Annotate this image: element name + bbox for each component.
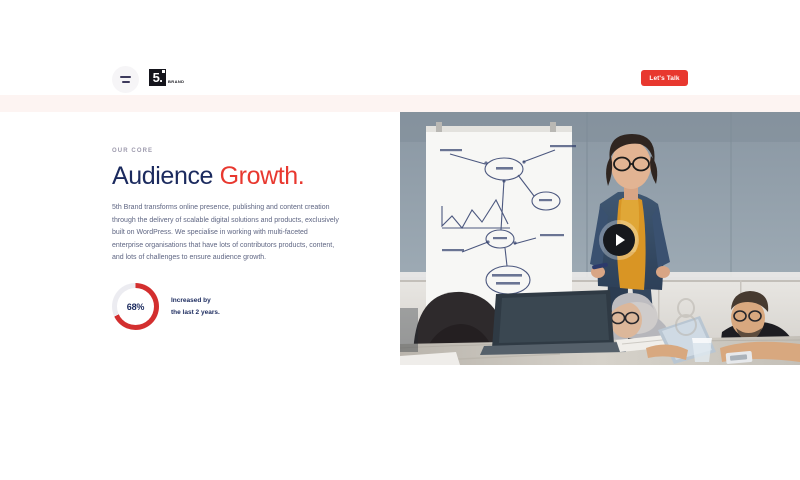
headline-accent: Growth. bbox=[220, 162, 305, 190]
headline-primary: Audience bbox=[112, 162, 213, 190]
hero-body-text: 5th Brand transforms online presence, pu… bbox=[112, 202, 340, 264]
stat-block: 68% Increased by the last 2 years. bbox=[112, 283, 220, 330]
stat-caption-line-1: Increased by bbox=[171, 295, 220, 306]
logo-mark: 5. bbox=[149, 69, 166, 86]
hamburger-menu-icon[interactable] bbox=[112, 66, 139, 93]
play-triangle bbox=[616, 234, 625, 246]
phone bbox=[726, 351, 753, 364]
brand-logo[interactable]: 5. BRAND bbox=[149, 69, 184, 86]
meeting-photo-illustration bbox=[400, 112, 800, 365]
page-title: Audience Growth. bbox=[112, 163, 352, 189]
stat-caption: Increased by the last 2 years. bbox=[171, 295, 220, 318]
landing-page: 5. BRAND Let's Talk OUR CORE Audience Gr… bbox=[0, 0, 800, 480]
menu-bar-top bbox=[120, 76, 131, 78]
donut-value-label: 68% bbox=[127, 302, 144, 312]
growth-donut-chart: 68% bbox=[112, 283, 159, 330]
logo-wordmark: BRAND bbox=[168, 79, 184, 86]
stat-caption-line-2: the last 2 years. bbox=[171, 307, 220, 318]
laptop bbox=[480, 290, 626, 355]
hero-video-thumbnail[interactable] bbox=[400, 112, 800, 365]
lets-talk-button[interactable]: Let's Talk bbox=[641, 70, 688, 86]
water-glass bbox=[692, 338, 712, 362]
logo-dot-square bbox=[162, 70, 165, 73]
hero-content: OUR CORE Audience Growth. 5th Brand tran… bbox=[112, 148, 352, 265]
decorative-blush-strip bbox=[0, 95, 800, 112]
site-header: 5. BRAND Let's Talk bbox=[0, 0, 800, 95]
menu-bar-bottom bbox=[122, 81, 130, 83]
hero-eyebrow: OUR CORE bbox=[112, 148, 352, 154]
play-button-icon[interactable] bbox=[603, 224, 635, 256]
